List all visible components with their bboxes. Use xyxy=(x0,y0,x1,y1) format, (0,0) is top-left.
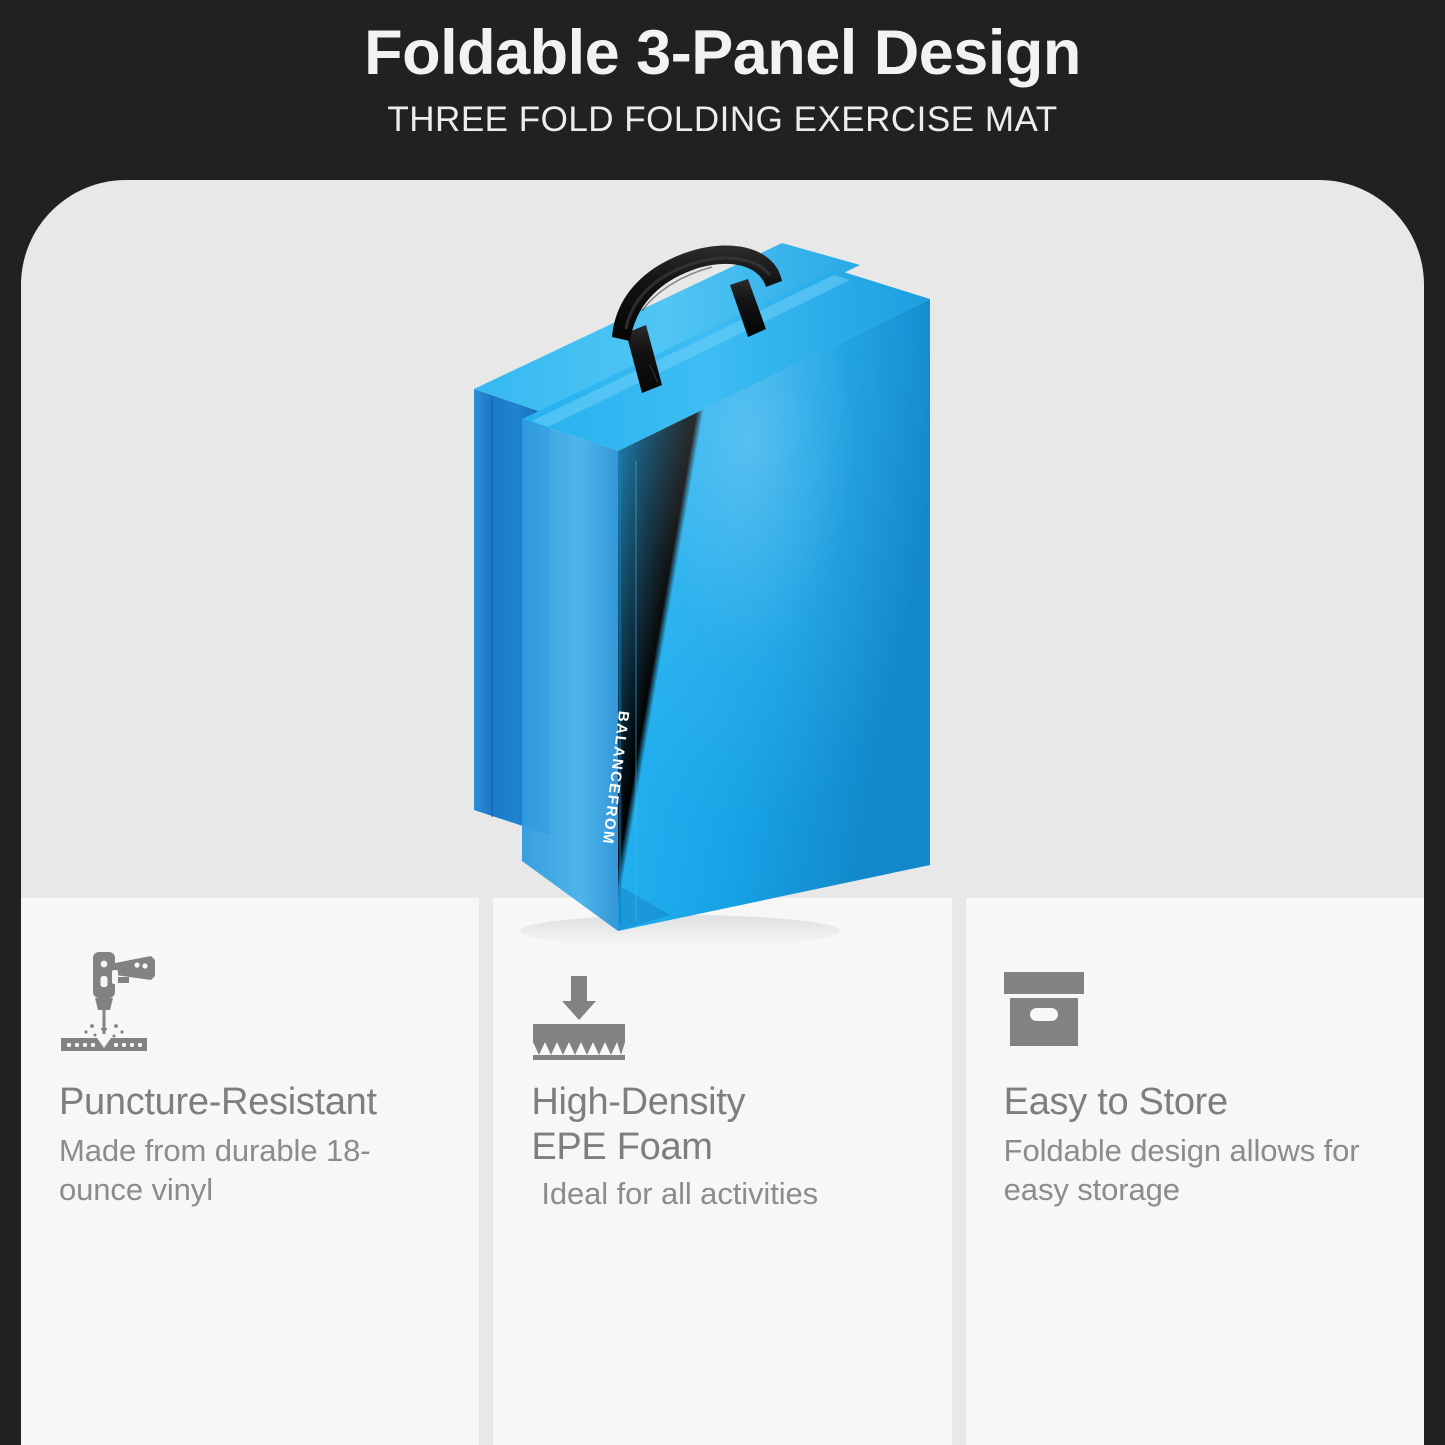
header-banner: Foldable 3-Panel Design THREE FOLD FOLDI… xyxy=(0,0,1445,185)
page-title: Foldable 3-Panel Design xyxy=(364,22,1081,85)
feature-card-row: Puncture-Resistant Made from durable 18-… xyxy=(21,898,1424,1445)
feature-card-high-density-foam: High-Density EPE Foam Ideal for all acti… xyxy=(493,898,951,1445)
feature-card-description: Ideal for all activities xyxy=(531,1174,913,1213)
feature-card-title: Easy to Store xyxy=(1004,1080,1386,1125)
feature-card-easy-to-store: Easy to Store Foldable design allows for… xyxy=(966,898,1424,1445)
puncture-drill-icon xyxy=(59,950,441,1058)
page-subtitle: THREE FOLD FOLDING EXERCISE MAT xyxy=(387,100,1057,140)
feature-card-description: Made from durable 18-ounce vinyl xyxy=(59,1131,441,1209)
foam-compression-icon xyxy=(531,950,913,1058)
feature-card-title: High-Density EPE Foam xyxy=(531,1080,913,1170)
feature-card-title: Puncture-Resistant xyxy=(59,1080,441,1125)
storage-box-icon xyxy=(1004,950,1386,1058)
feature-card-description: Foldable design allows for easy storage xyxy=(1004,1131,1386,1209)
feature-card-puncture-resistant: Puncture-Resistant Made from durable 18-… xyxy=(21,898,479,1445)
